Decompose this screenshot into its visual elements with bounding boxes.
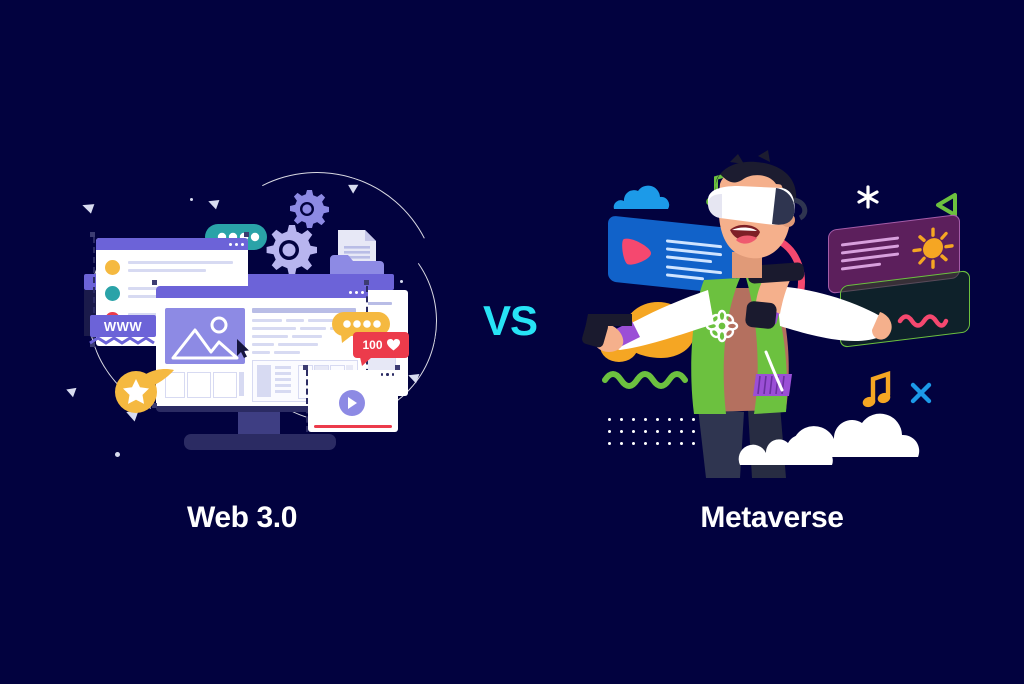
shooting-star-icon [112,368,176,414]
window-dot [235,243,238,246]
web3-illustration: WWW [60,160,460,480]
poster-canvas: WWW [0,0,1024,684]
decor-triangle-7 [65,385,77,397]
heart-icon [387,339,400,351]
left-panel-title: Web 3.0 [100,501,384,535]
list-avatar-teal [105,286,120,301]
list-avatar-yellow [105,260,120,275]
play-button-icon[interactable] [339,390,365,416]
metaverse-illustration [580,160,1000,480]
dot-grid-icon [608,418,695,445]
mouse-cursor-icon [236,339,250,358]
window-dot [241,243,244,246]
video-player-window[interactable] [308,370,398,432]
zigzag-icon-green [602,368,688,388]
like-count: 100 [362,338,382,352]
window-dot [229,243,232,246]
monitor-base [184,434,336,450]
www-badge: WWW [90,315,156,337]
monitor-neck [238,410,280,436]
monitor-title-bar [156,286,368,298]
versus-label: VS [455,297,565,345]
like-badge-tail [360,357,374,367]
decor-triangle-1 [81,200,95,213]
cross-x-icon [910,382,932,404]
like-badge: 100 [353,332,409,358]
decor-dot-3 [115,452,120,457]
cloud-icon-white-small [740,432,832,466]
right-panel-title: Metaverse [630,501,914,535]
decor-dot-1 [190,198,193,201]
image-placeholder [165,308,245,364]
window-title-bar [96,238,248,250]
www-underline-zigzag [90,337,156,345]
decor-dot-5 [400,280,403,283]
